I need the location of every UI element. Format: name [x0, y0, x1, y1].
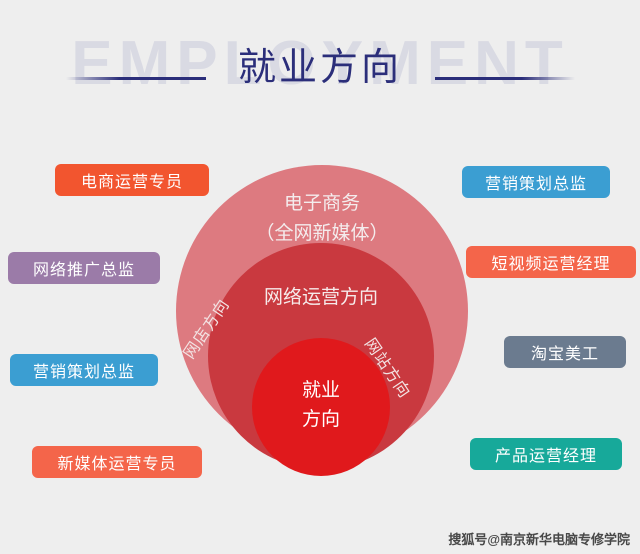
job-title-label-left-0[interactable]: 电商运营专员 — [55, 164, 209, 196]
job-title-label-left-2[interactable]: 营销策划总监 — [10, 354, 158, 386]
job-title-label-right-1[interactable]: 短视频运营经理 — [466, 246, 636, 278]
circle-outer-label: 电子商务 （全网新媒体） — [176, 189, 468, 249]
job-title-label-right-3[interactable]: 产品运营经理 — [470, 438, 622, 470]
job-title-label-right-2[interactable]: 淘宝美工 — [504, 336, 626, 368]
circle-inner-label-line1: 就业 — [252, 376, 390, 405]
job-title-label-right-0[interactable]: 营销策划总监 — [462, 166, 610, 198]
circle-middle-label-line1: 网络运营方向 — [208, 285, 434, 311]
page-title: 就业方向 — [0, 44, 640, 92]
poster-canvas: EMPLOYMENT 就业方向 电子商务 （全网新媒体） 网络运营方向 就业 方… — [0, 0, 640, 554]
job-title-label-left-3[interactable]: 新媒体运营专员 — [32, 446, 202, 478]
circle-middle-label: 网络运营方向 — [208, 285, 434, 311]
circle-inner-label: 就业 方向 — [252, 376, 390, 434]
circle-inner-label-line2: 方向 — [252, 405, 390, 434]
circle-outer-label-line1: 电子商务 — [176, 189, 468, 219]
job-title-label-left-1[interactable]: 网络推广总监 — [8, 252, 160, 284]
footer-watermark: 搜狐号@南京新华电脑专修学院 — [448, 529, 630, 548]
poster-header: EMPLOYMENT 就业方向 — [0, 0, 640, 130]
